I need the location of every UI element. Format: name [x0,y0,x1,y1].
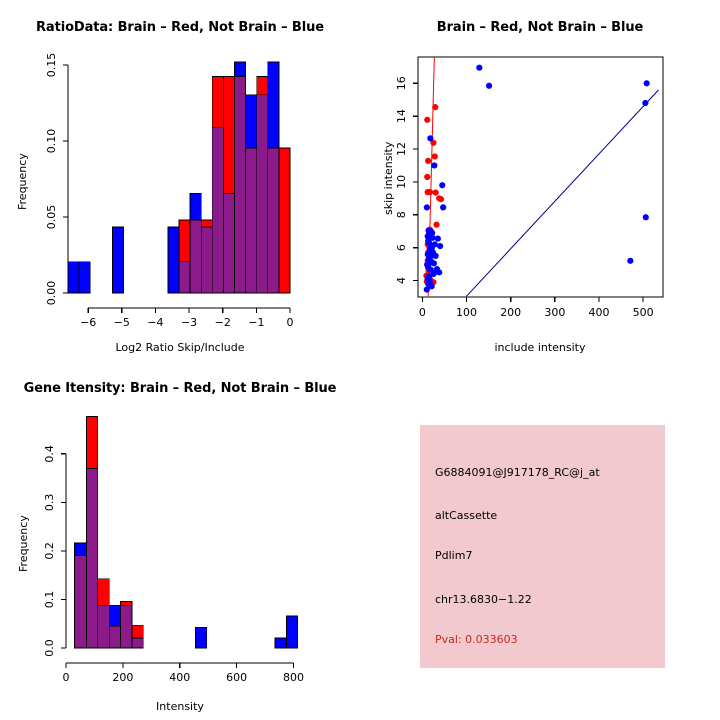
ratio-bar-outer [168,227,179,293]
gene-bar-overlap [98,605,109,648]
ratio-y-tick-label: 0.15 [45,53,58,78]
scatter-point [427,135,433,141]
scatter-x-tick-label: 300 [544,306,565,319]
scatter-point [434,266,440,272]
scatter-point [437,243,443,249]
ratio-histogram-ylabel: Frequency [16,153,29,210]
ratio-x-tick-label: 0 [287,316,294,329]
gene-bar-overlap [132,638,143,648]
gene-bar-overlap [86,468,97,648]
scatter-ylabel: skip intensity [382,142,395,215]
scatter-x-tick-label: 500 [633,306,654,319]
scatter-y-tick-label: 6 [395,244,408,251]
probe-id-text: G6884091@J917178_RC@j_at [435,466,600,479]
ratio-bar-overlap [201,227,212,293]
ratio-histogram-xlabel: Log2 Ratio Skip/Include [0,341,360,354]
ratio-bar-outer [79,262,90,293]
scatter-box [418,57,663,297]
gene-bar-overlap [121,605,132,648]
scatter-point [643,214,649,220]
ratio-y-tick-label: 0.05 [45,205,58,230]
gene-y-tick-label: 0.4 [43,445,56,463]
ratio-bar-overlap [223,193,234,293]
scatter-point [627,258,633,264]
ratio-bar-outer [279,148,290,293]
gene-histogram-plot: 0.00.10.20.30.40200400600800 [0,360,360,720]
scatter-point [438,196,444,202]
gene-bar-outer [286,616,297,648]
gene-y-tick-label: 0.3 [43,494,56,512]
scatter-point [433,222,439,228]
gene-intensity-panel: Gene Itensity: Brain – Red, Not Brain – … [0,360,360,720]
scatter-point [440,204,446,210]
scatter-point [433,253,439,259]
scatter-point [424,204,430,210]
gene-x-tick-label: 200 [112,671,133,684]
gene-y-tick-label: 0.2 [43,542,56,560]
scatter-y-tick-label: 8 [395,211,408,218]
ratio-bar-overlap [179,262,190,293]
ratio-bar-outer [112,227,123,293]
gene-histogram-ylabel: Frequency [17,515,30,572]
ratio-x-tick-label: −2 [215,316,231,329]
ratio-x-tick-label: −5 [114,316,130,329]
scatter-point [424,174,430,180]
gene-bar-overlap [109,626,120,648]
scatter-x-tick-label: 400 [588,306,609,319]
ratio-bar-outer [68,262,79,293]
ratio-x-tick-label: −3 [181,316,197,329]
scatter-point [424,117,430,123]
ratio-bar-overlap [212,127,223,293]
locus-text: chr13.6830−1.22 [435,593,532,606]
scatter-x-tick-label: 200 [500,306,521,319]
scatter-point [425,158,431,164]
gene-info-panel: G6884091@J917178_RC@j_at altCassette Pdl… [420,425,665,668]
scatter-point [431,260,437,266]
scatter-y-tick-label: 12 [395,142,408,156]
ratio-x-tick-label: −1 [248,316,264,329]
scatter-point [424,287,430,293]
ratio-x-tick-label: −4 [147,316,163,329]
gene-symbol-text: Pdlim7 [435,549,472,562]
ratio-bar-overlap [246,148,257,293]
scatter-x-tick-label: 100 [456,306,477,319]
scatter-point [439,182,445,188]
scatter-point [425,233,431,239]
ratio-bar-overlap [190,220,201,293]
gene-y-tick-label: 0.1 [43,591,56,609]
ratio-bar-overlap [257,95,268,293]
scatter-point [642,100,648,106]
gene-y-tick-label: 0.0 [43,639,56,657]
event-type-text: altCassette [435,509,497,522]
scatter-point [433,190,439,196]
ratio-bar-overlap [268,148,279,293]
gene-x-tick-label: 0 [63,671,70,684]
gene-x-tick-label: 400 [169,671,190,684]
gene-bar-outer [275,638,286,648]
ratio-histogram-plot: 0.000.050.100.15−6−5−4−3−2−10 [0,0,360,360]
scatter-content [423,57,658,296]
ratio-bar-overlap [235,76,246,293]
ratio-x-tick-label: −6 [80,316,96,329]
intensity-scatter-panel: Brain – Red, Not Brain – Blue 4681012141… [360,0,720,360]
scatter-x-tick-label: 0 [419,306,426,319]
scatter-y-tick-label: 10 [395,175,408,189]
scatter-y-tick-label: 16 [395,76,408,90]
gene-x-tick-label: 800 [283,671,304,684]
scatter-point [476,65,482,71]
gene-x-tick-label: 600 [226,671,247,684]
ratio-histogram-panel: RatioData: Brain – Red, Not Brain – Blue… [0,0,360,360]
scatter-point [432,104,438,110]
scatter-y-tick-label: 14 [395,109,408,123]
scatter-point [486,83,492,89]
scatter-point [435,236,441,242]
gene-bar-overlap [75,556,87,648]
scatter-plot: 468101214160100200300400500 [360,0,720,360]
gene-histogram-xlabel: Intensity [0,700,360,713]
scatter-y-tick-label: 4 [395,277,408,284]
pval-text: Pval: 0.033603 [435,633,518,646]
scatter-point [432,241,438,247]
scatter-fit-line-notbrain-fit [467,90,659,296]
scatter-point [644,80,650,86]
scatter-point [427,189,433,195]
scatter-point [431,162,437,168]
ratio-y-tick-label: 0.10 [45,129,58,154]
scatter-xlabel: include intensity [360,341,720,354]
scatter-point [432,153,438,159]
gene-bar-outer [195,628,206,648]
ratio-y-tick-label: 0.00 [45,281,58,306]
